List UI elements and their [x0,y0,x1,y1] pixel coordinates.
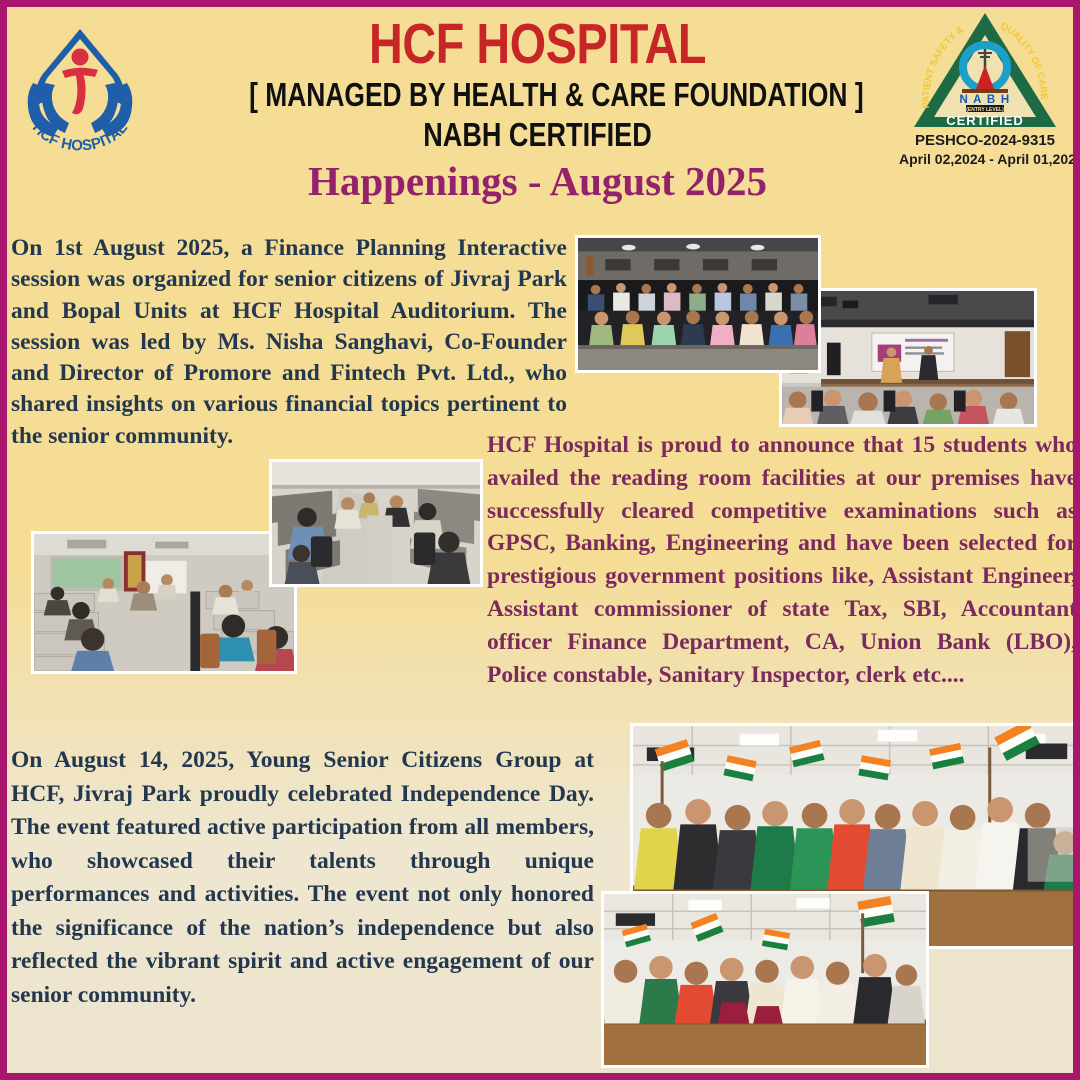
page-title: HCF HOSPITAL [242,13,833,75]
certificate-validity: April 02,2024 - April 01,2026 [899,150,1071,168]
managed-by-line: [ MANAGED BY HEALTH & CARE FOUNDATION ] [249,75,826,115]
header-title-stack: HCF HOSPITAL [ MANAGED BY HEALTH & CARE … [177,13,898,204]
issue-title: Happenings - August 2025 [177,158,898,204]
svg-text:N A B H: N A B H [959,94,1010,106]
certificate-number: PESHCO-2024-9315 [899,131,1071,150]
hcf-hospital-logo: HCF HOSPITAL HCF HOSPITAL [15,13,145,153]
svg-text:CERTIFIED: CERTIFIED [946,113,1024,128]
photo-independence-day-group-salute [601,891,929,1068]
story-reading-room-students: HCF Hospital is proud to announce that 1… [487,429,1077,691]
newsletter-poster: HCF HOSPITAL HCF HOSPITAL HCF HOSPITAL [… [0,0,1080,1080]
story-finance-planning-session: On 1st August 2025, a Finance Planning I… [11,233,567,452]
accreditation-line: NABH CERTIFIED [242,115,833,154]
photo-reading-room-hall [31,531,297,674]
photo-auditorium-seated-group [575,235,821,373]
nabh-certified-triangle-icon: PATIENT SAFETY & QUALITY OF CARE N A B H… [910,9,1060,131]
story-independence-day-celebration: On August 14, 2025, Young Senior Citizen… [11,744,594,1012]
nabh-certification-badge: PATIENT SAFETY & QUALITY OF CARE N A B H… [899,9,1071,168]
hcf-droplet-hands-icon: HCF HOSPITAL HCF HOSPITAL [15,13,145,153]
poster-header: HCF HOSPITAL HCF HOSPITAL HCF HOSPITAL [… [7,7,1073,229]
photo-reading-room-study-desks [269,459,483,587]
svg-text:HCF HOSPITAL: HCF HOSPITAL [29,119,131,153]
